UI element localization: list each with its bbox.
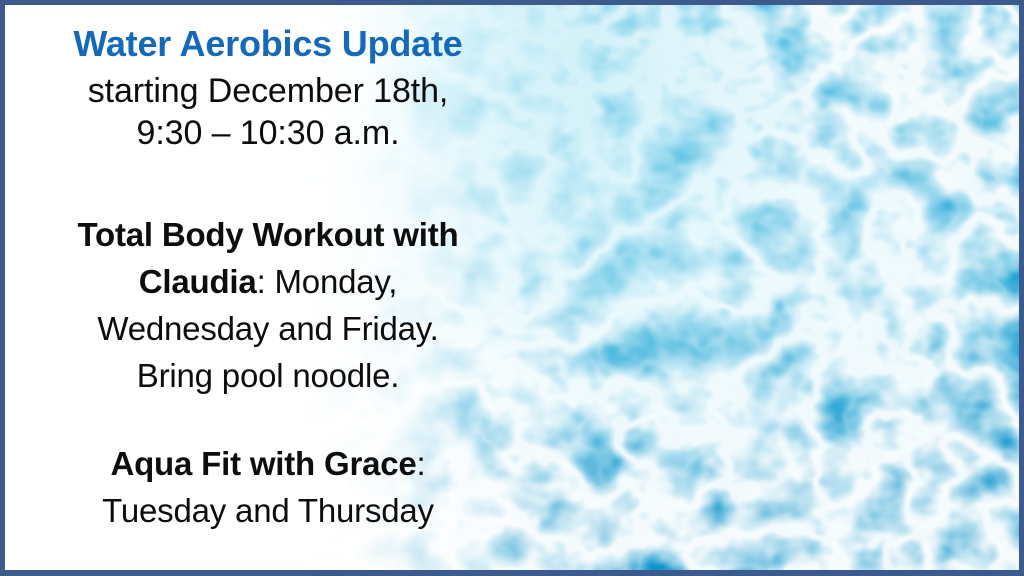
schedule-subtitle: starting December 18th, 9:30 – 10:30 a.m… bbox=[0, 70, 536, 154]
aqua-fit-line-2: Tuesday and Thursday bbox=[0, 487, 536, 534]
instructor-name-claudia: Claudia bbox=[139, 263, 257, 300]
aqua-fit-line-1: Aqua Fit with Grace: bbox=[0, 440, 536, 487]
class-block-aqua-fit: Aqua Fit with Grace: Tuesday and Thursda… bbox=[0, 440, 536, 534]
slide-text-content: Water Aerobics Update starting December … bbox=[0, 0, 536, 576]
total-body-line-1: Total Body Workout with bbox=[0, 211, 536, 258]
subtitle-line-1: starting December 18th, bbox=[0, 70, 536, 112]
class-block-total-body-workout: Total Body Workout with Claudia: Monday,… bbox=[0, 211, 536, 399]
instructor-name-grace: Aqua Fit with Grace bbox=[110, 445, 416, 482]
subtitle-line-2: 9:30 – 10:30 a.m. bbox=[0, 112, 536, 154]
page-title: Water Aerobics Update bbox=[0, 22, 536, 66]
title-text: Water Aerobics Update bbox=[0, 22, 536, 66]
aqua-fit-colon: : bbox=[417, 445, 426, 482]
total-body-line-3: Wednesday and Friday. bbox=[0, 305, 536, 352]
total-body-line-4: Bring pool noodle. bbox=[0, 352, 536, 399]
total-body-line-2: Claudia: Monday, bbox=[0, 258, 536, 305]
slide-canvas: Water Aerobics Update starting December … bbox=[0, 0, 1024, 576]
total-body-days-start: : Monday, bbox=[257, 263, 398, 300]
